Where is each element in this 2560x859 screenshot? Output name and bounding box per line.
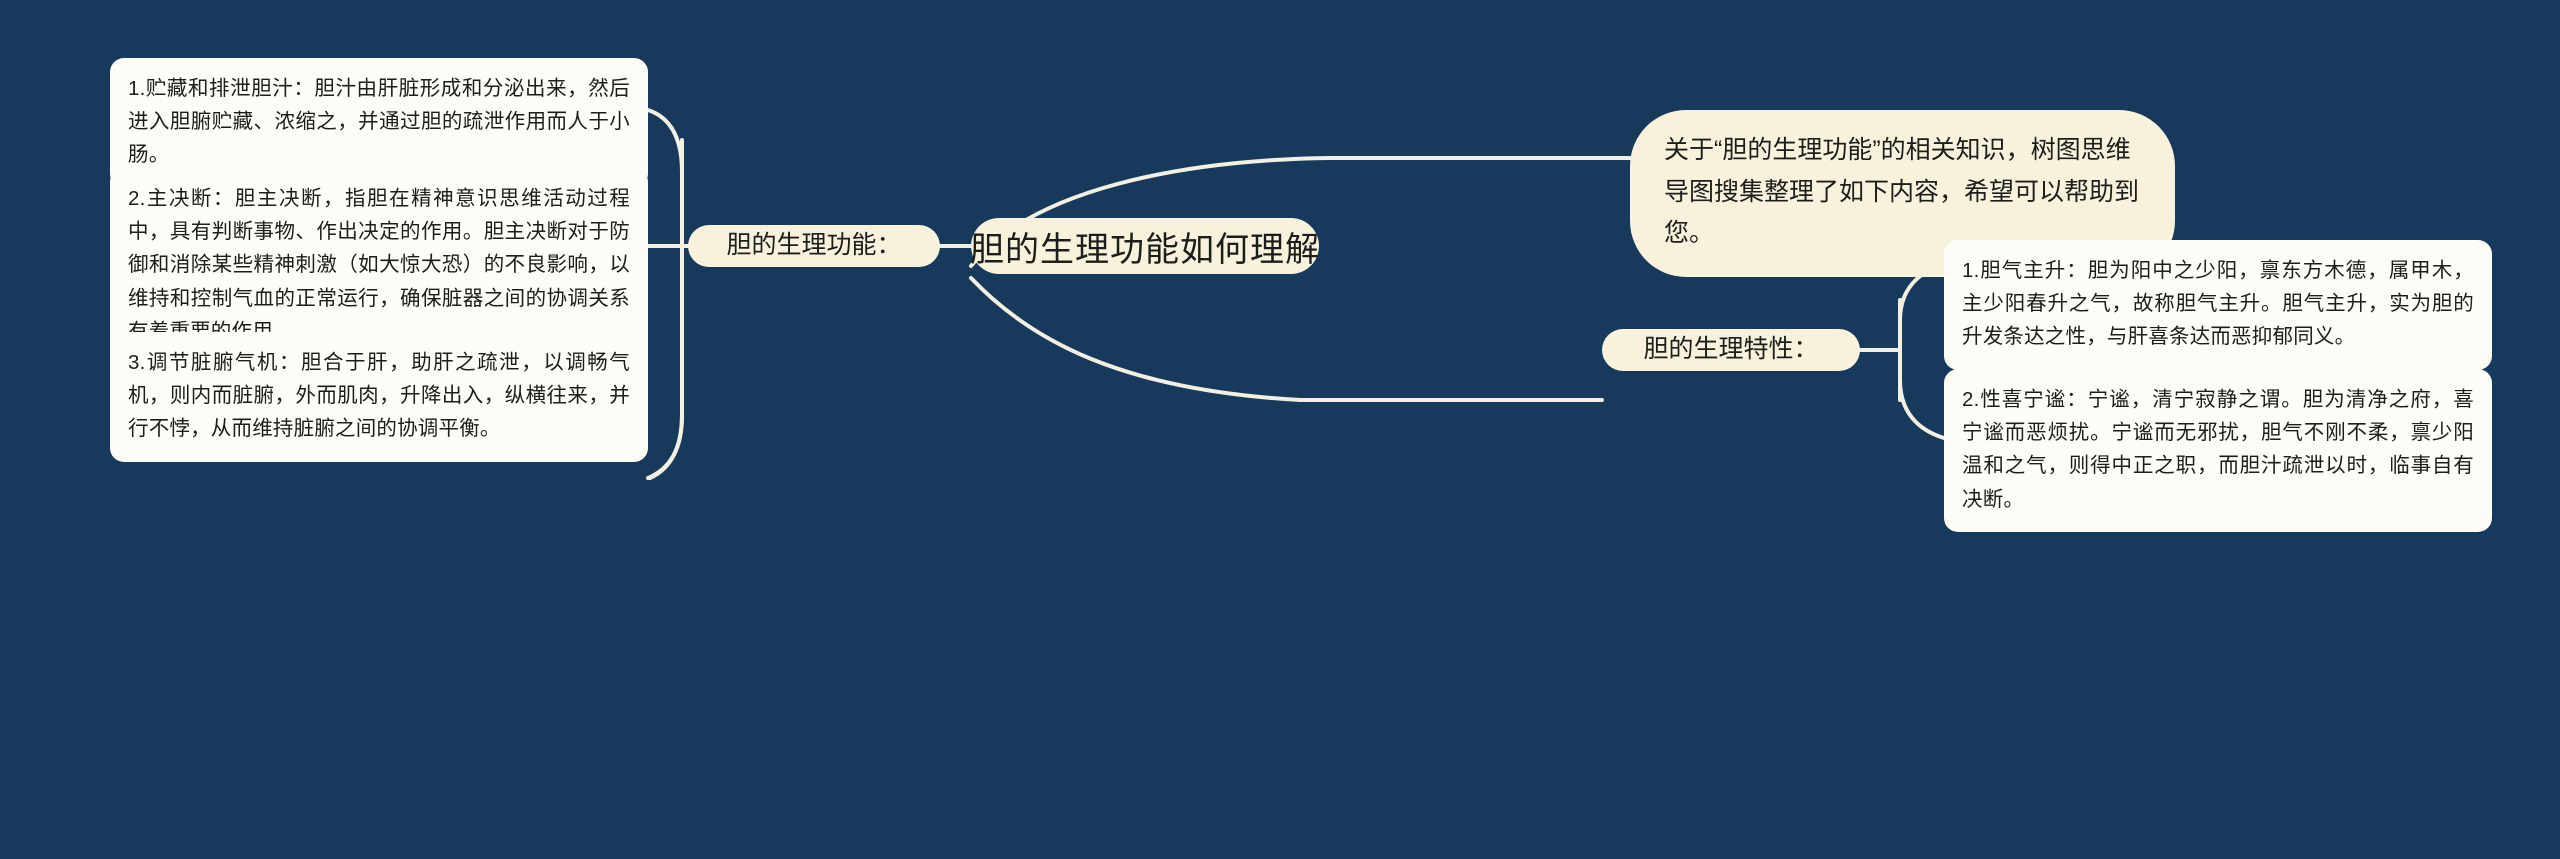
leaf-box-function-3[interactable]: 3.调节脏腑气机：胆合于肝，助肝之疏泄，以调畅气机，则内而脏腑，外而肌肉，升降出… (110, 332, 648, 462)
branch-node-physiological-function[interactable]: 胆的生理功能： (688, 225, 940, 267)
mindmap-canvas: 1.贮藏和排泄胆汁：胆汁由肝脏形成和分泌出来，然后进入胆腑贮藏、浓缩之，并通过胆… (0, 0, 2560, 859)
intro-node-text: 关于“胆的生理功能”的相关知识，树图思维导图搜集整理了如下内容，希望可以帮助到您… (1664, 130, 2145, 255)
branch-node-physiological-characteristics[interactable]: 胆的生理特性： (1602, 329, 1860, 371)
connector-root-to-trait (971, 278, 1602, 400)
leaf-box-function-2-text: 2.主决断：胆主决断，指胆在精神意识思维活动过程中，具有判断事物、作出决定的作用… (128, 182, 630, 348)
leaf-box-characteristic-1-text: 1.胆气主升：胆为阳中之少阳，禀东方木德，属甲木，主少阳春升之气，故称胆气主升。… (1962, 254, 2474, 354)
branch-node-physiological-function-label: 胆的生理功能： (726, 227, 901, 265)
branch-node-physiological-characteristics-label: 胆的生理特性： (1643, 331, 1818, 369)
leaf-box-characteristic-2[interactable]: 2.性喜宁谧：宁谧，清宁寂静之谓。胆为清净之府，喜宁谧而恶烦扰。宁谧而无邪扰，胆… (1944, 369, 2492, 532)
leaf-box-function-1-text: 1.贮藏和排泄胆汁：胆汁由肝脏形成和分泌出来，然后进入胆腑贮藏、浓缩之，并通过胆… (128, 72, 630, 172)
leaf-box-characteristic-1[interactable]: 1.胆气主升：胆为阳中之少阳，禀东方木德，属甲木，主少阳春升之气，故称胆气主升。… (1944, 240, 2492, 370)
leaf-box-function-3-text: 3.调节脏腑气机：胆合于肝，助肝之疏泄，以调畅气机，则内而脏腑，外而肌肉，升降出… (128, 346, 630, 446)
connector-right-bracket (1900, 264, 1944, 438)
root-node-label: 胆的生理功能如何理解 (970, 222, 1320, 271)
connector-left-bracket-lower (650, 246, 682, 478)
root-node[interactable]: 胆的生理功能如何理解 (971, 218, 1319, 274)
connector-left-bracket (648, 110, 682, 478)
leaf-box-characteristic-2-text: 2.性喜宁谧：宁谧，清宁寂静之谓。胆为清净之府，喜宁谧而恶烦扰。宁谧而无邪扰，胆… (1962, 383, 2474, 516)
